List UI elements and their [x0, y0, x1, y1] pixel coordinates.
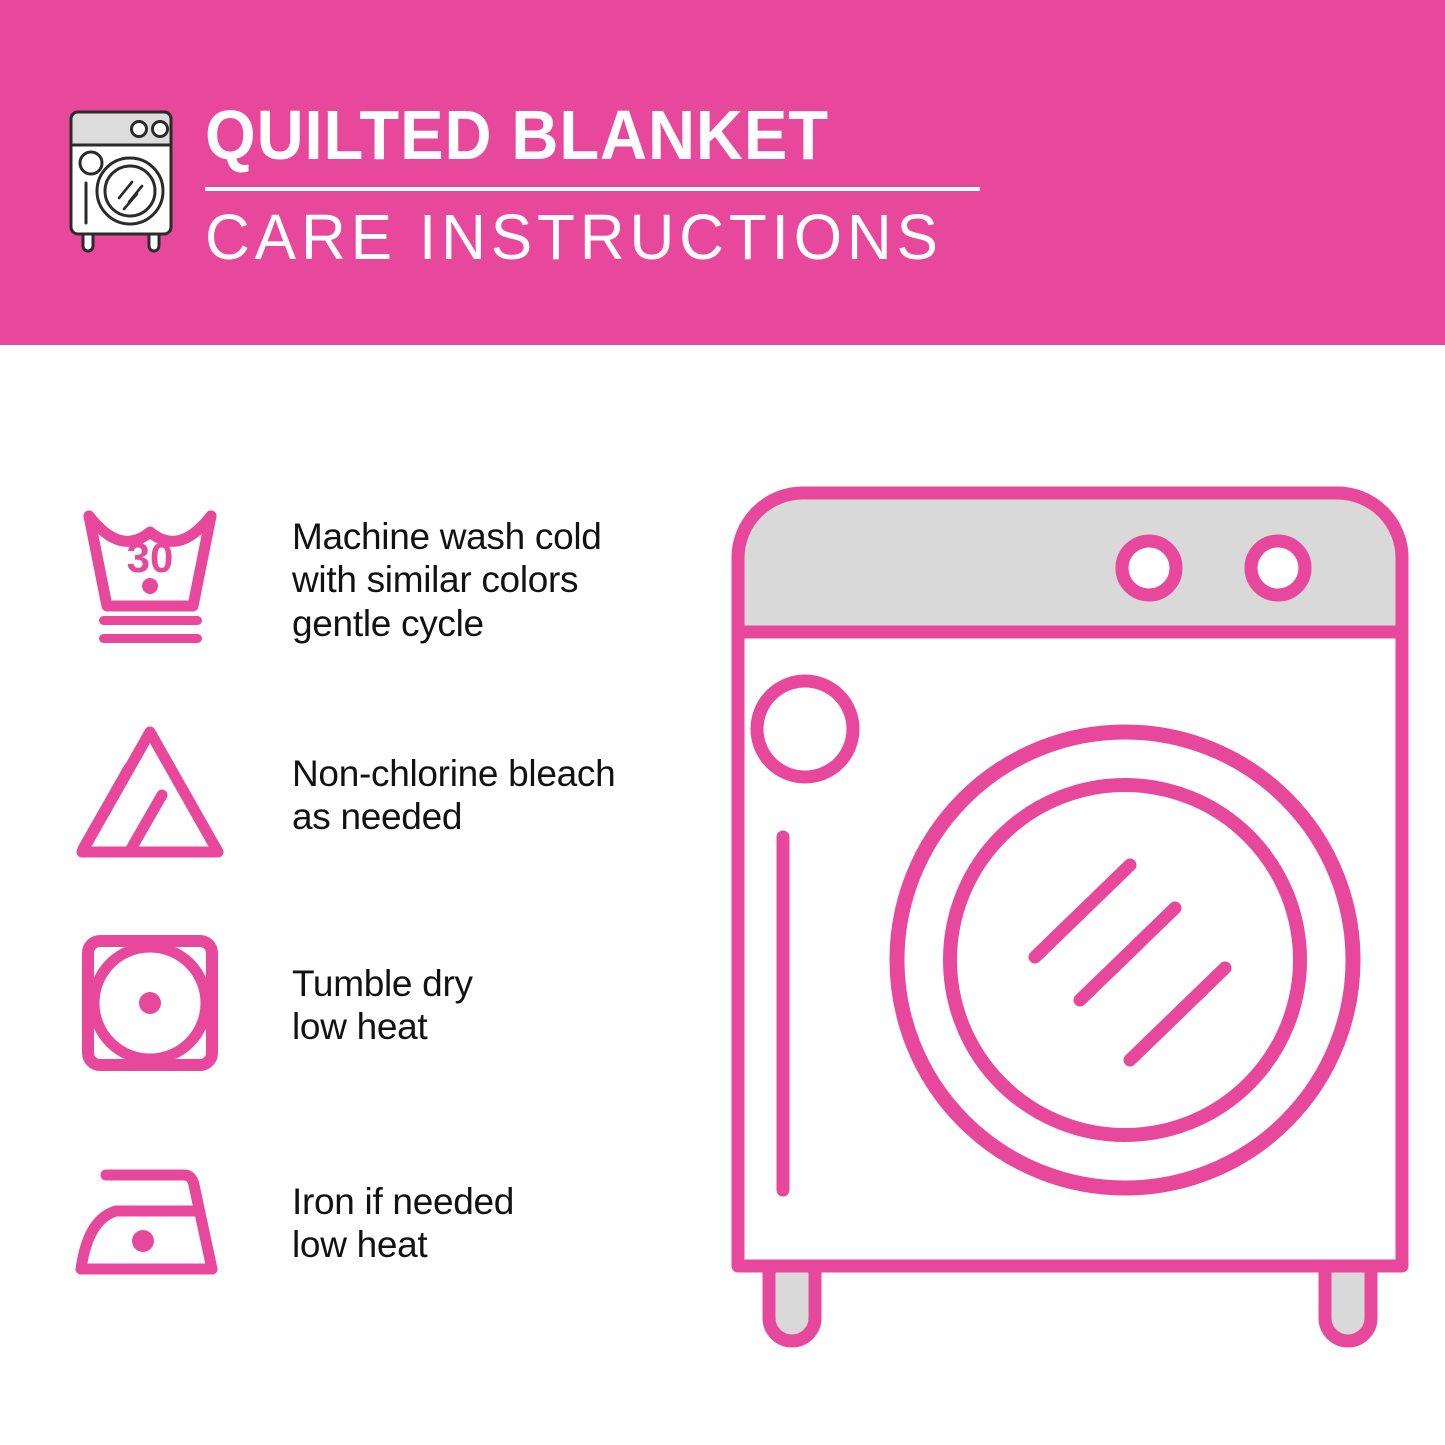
front-load-washing-machine-illustration: [725, 480, 1415, 1370]
non-chlorine-bleach-triangle-icon: [70, 718, 230, 868]
care-label-machine-wash: Machine wash cold with similar colors ge…: [292, 515, 692, 645]
care-line: low heat: [292, 1005, 692, 1048]
wash-tub-30-gentle-icon: 30: [70, 502, 230, 652]
page-subtitle: CARE INSTRUCTIONS: [205, 205, 971, 269]
care-line: as needed: [292, 795, 692, 838]
care-row-machine-wash: 30 Machine wash cold with similar colors…: [70, 480, 690, 690]
wash-temperature-value: 30: [126, 534, 173, 581]
header-text-block: QUILTED BLANKET CARE INSTRUCTIONS: [205, 100, 995, 269]
detergent-port-circle: [757, 681, 853, 777]
care-line: low heat: [292, 1223, 692, 1266]
care-instructions-infographic: QUILTED BLANKET CARE INSTRUCTIONS 30: [0, 0, 1445, 1445]
iron-low-heat-icon: [70, 1148, 230, 1298]
care-row-iron: Iron if needed low heat: [70, 1110, 690, 1320]
page-title: QUILTED BLANKET: [205, 100, 940, 170]
care-label-iron: Iron if needed low heat: [292, 1180, 692, 1267]
tumble-dry-low-icon: [70, 928, 230, 1078]
care-label-tumble-dry: Tumble dry low heat: [292, 962, 692, 1049]
washing-machine-icon: [60, 103, 185, 253]
care-row-bleach: Non-chlorine bleach as needed: [70, 690, 690, 900]
header-banner: QUILTED BLANKET CARE INSTRUCTIONS: [0, 0, 1445, 345]
knob: [1122, 541, 1176, 595]
care-line: Machine wash cold: [292, 515, 692, 558]
care-instruction-list: 30 Machine wash cold with similar colors…: [70, 480, 690, 1320]
knob: [1251, 541, 1305, 595]
care-line: Iron if needed: [292, 1180, 692, 1223]
care-label-bleach: Non-chlorine bleach as needed: [292, 752, 692, 839]
title-divider: [205, 187, 980, 191]
care-line: gentle cycle: [292, 602, 692, 645]
care-line: with similar colors: [292, 558, 692, 601]
care-row-tumble-dry: Tumble dry low heat: [70, 900, 690, 1110]
care-line: Non-chlorine bleach: [292, 752, 692, 795]
care-line: Tumble dry: [292, 962, 692, 1005]
